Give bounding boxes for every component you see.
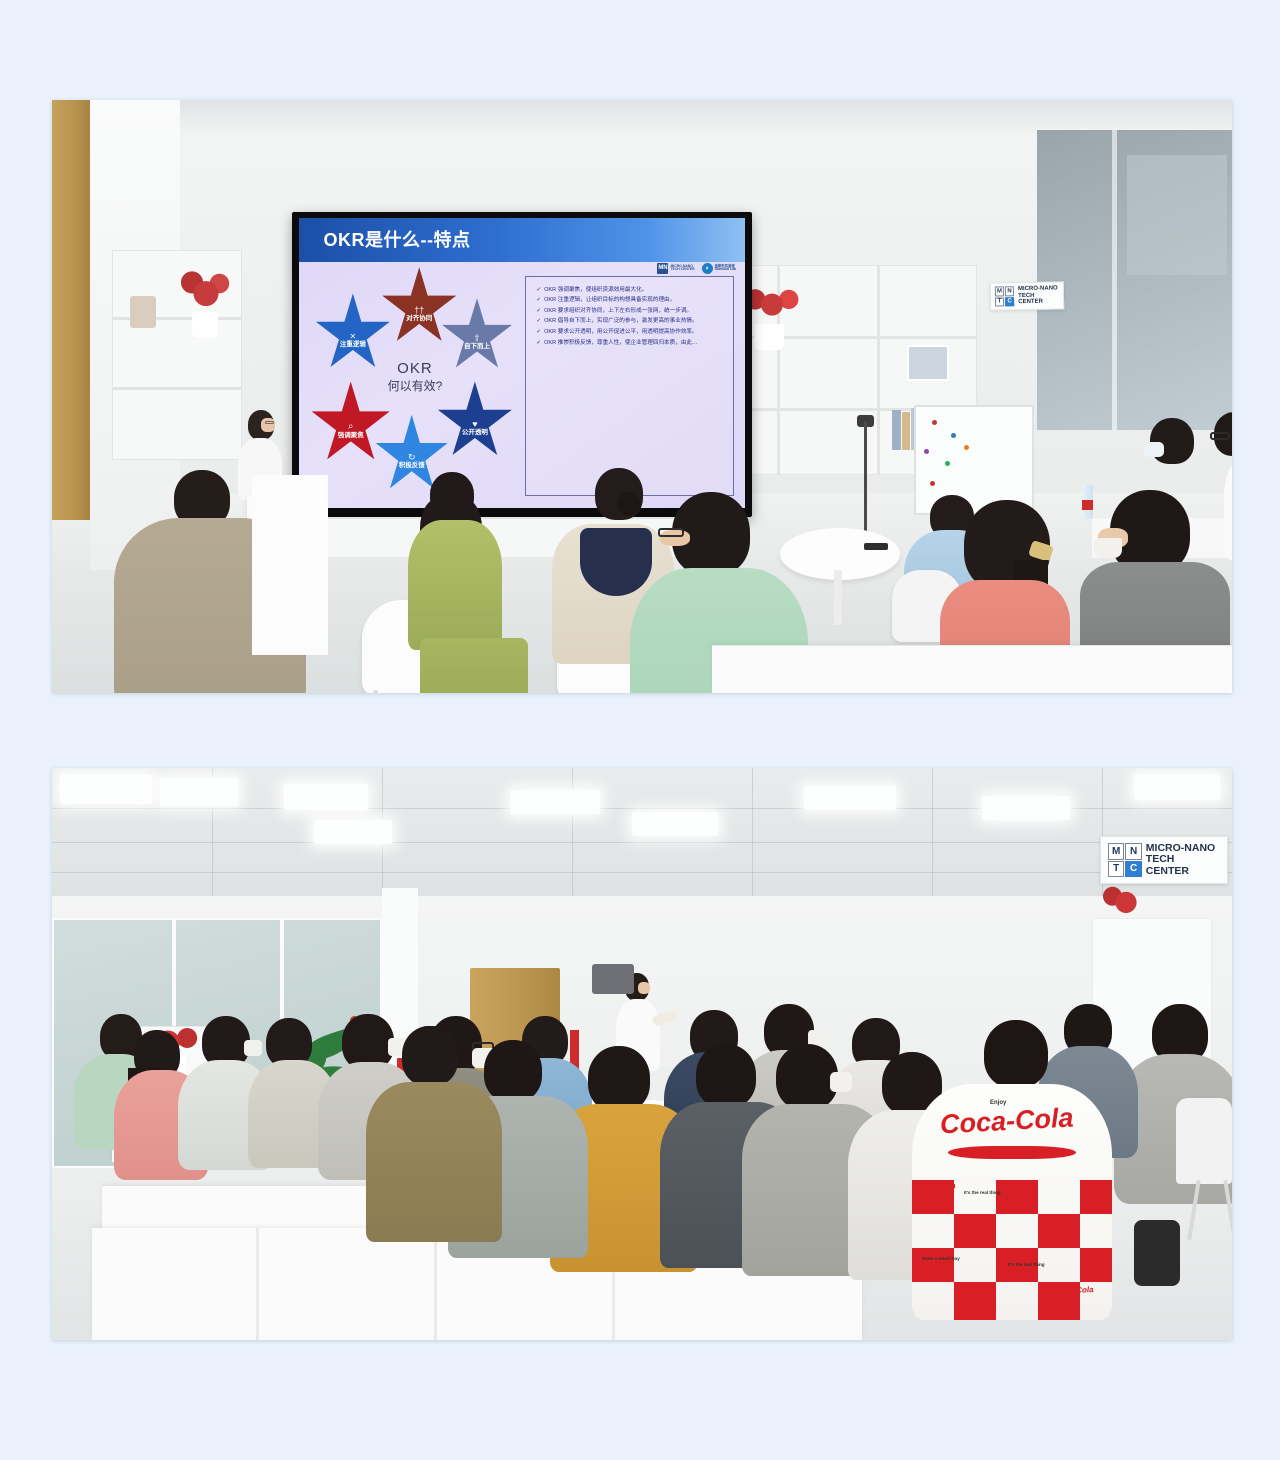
bullet-item: ✓ OKR 要求组织对齐协同，上下左右形成一张网，统一步调。: [536, 308, 722, 315]
office-chair-dark: [1134, 1220, 1180, 1286]
check-icon: ✓: [536, 329, 541, 336]
okr-star-diagram: †† 对齐协同 ⇧ 自下而上 ♥ 公开透明: [308, 267, 522, 505]
ceiling-light: [632, 812, 718, 836]
star-duiqixietong[interactable]: †† 对齐协同: [381, 267, 458, 348]
okr-bullet-panel: ✓ OKR 强调聚焦，使组织资源效用最大化。 ✓ OKR 注重逻辑，让组织目标的…: [525, 276, 735, 496]
ceiling-light: [160, 778, 238, 806]
sign-cell-m: M: [1108, 843, 1124, 860]
window-pane-right: [1127, 155, 1227, 275]
check-icon: ✓: [536, 340, 541, 347]
sign-line2: TECH CENTER: [1018, 292, 1059, 306]
star-label: 对齐协同: [406, 316, 432, 323]
face-mask: [1094, 538, 1122, 558]
check-icon: ✓: [536, 308, 541, 315]
magnet-dot: [964, 445, 969, 450]
cola-swoosh: [948, 1146, 1076, 1159]
skirt: [420, 638, 528, 693]
ceiling-top: [52, 100, 1232, 134]
star-label: 注重逻辑: [340, 342, 366, 349]
glasses-icon: [658, 528, 684, 537]
face-mask: [244, 1040, 262, 1056]
collage-page: OKR是什么--特点 MN MICRO-NANO TECH CENTER: [0, 0, 1280, 1460]
white-partition-board: [252, 475, 328, 655]
bullet-text: OKR 要求公开透明，用公开促进公平，用透明提高协作效率。: [544, 329, 723, 336]
sign-cell-c: C: [1005, 297, 1014, 307]
remote-control: [864, 543, 888, 550]
okr-center-line2: 何以有效?: [364, 379, 467, 394]
sign-cell-n: N: [1005, 286, 1014, 296]
diamond-lab-logo: ◗ 金刚石实验室 Diamond Lab: [702, 263, 736, 274]
cola-brand-script-small: Coca-Cola: [1054, 1285, 1094, 1296]
face-mask: [830, 1072, 852, 1092]
ceiling-light: [284, 784, 368, 810]
link-icon: ✕: [350, 333, 357, 341]
flower-pot-left: [192, 312, 218, 338]
sign-cell-m: M: [995, 286, 1004, 296]
sign-cell-c: C: [1125, 861, 1141, 878]
mntc-logo-line2: TECH CENTER: [670, 268, 694, 271]
hair-bun: [618, 492, 640, 516]
okr-slide: OKR是什么--特点 MN MICRO-NANO TECH CENTER: [299, 218, 745, 508]
bullet-item: ✓ OKR 要求公开透明，用公开促进公平，用透明提高协作效率。: [536, 329, 722, 336]
sign-cell-t: T: [995, 297, 1004, 307]
bullet-item: ✓ OKR 强调聚焦，使组织资源效用最大化。: [536, 287, 722, 294]
ceiling-light: [1134, 774, 1220, 800]
table-leg: [834, 570, 842, 625]
search-icon: ⌕: [348, 422, 354, 432]
navy-scarf: [580, 528, 652, 596]
chair-right: [1176, 1098, 1232, 1184]
bullet-text: OKR 强调聚焦，使组织资源效用最大化。: [544, 287, 723, 294]
ceiling-speaker: [592, 964, 634, 994]
ceiling-light: [510, 790, 600, 814]
glasses-icon: [1210, 432, 1230, 440]
micro-nano-tech-center-logo: MN MICRO-NANO TECH CENTER: [657, 263, 694, 274]
bullet-text: OKR 注重逻辑，让组织目标的构想具备实现的理由。: [544, 297, 723, 304]
vase-left: [130, 296, 156, 328]
bullet-item: ✓ OKR 注重逻辑，让组织目标的构想具备实现的理由。: [536, 297, 722, 304]
feedback-icon: ↻: [408, 453, 416, 462]
red-flowers-right-bottom: [1100, 876, 1152, 920]
magnet-dot: [924, 449, 929, 454]
cola-brand-script: Coca-Cola: [939, 1103, 1074, 1141]
star-label: 强调聚焦: [338, 433, 364, 440]
book: [892, 410, 901, 450]
magnet-dot: [945, 461, 950, 466]
okr-center-label: OKR 何以有效?: [364, 360, 467, 394]
ceiling-light: [60, 774, 152, 804]
magnet-dot: [930, 481, 935, 486]
projection-screen-top[interactable]: OKR是什么--特点 MN MICRO-NANO TECH CENTER: [292, 212, 752, 517]
slide-header: OKR是什么--特点 MN MICRO-NANO TECH CENTER: [299, 218, 745, 262]
sign-cell-t: T: [1108, 861, 1124, 878]
slide-title: OKR是什么--特点: [324, 231, 471, 249]
red-flowers-left: [178, 260, 234, 316]
check-icon: ✓: [536, 287, 541, 294]
bullet-item: ✓ OKR 推崇积极反馈，尊重人性，使企业管理回归本质，由此…: [536, 340, 722, 347]
shelf-divider: [877, 265, 880, 475]
cola-tagline-b: Have a Good Day: [922, 1256, 960, 1261]
ceiling-light: [982, 796, 1070, 820]
star-label: 公开透明: [462, 430, 488, 437]
star-qiangdiaojujiao[interactable]: ⌕ 强调聚焦: [310, 381, 391, 467]
ceiling-light: [804, 786, 896, 810]
bullet-text: OKR 推崇积极反馈，尊重人性，使企业管理回归本质，由此…: [544, 340, 723, 347]
slide-logo-group: MN MICRO-NANO TECH CENTER ◗ 金刚石: [657, 263, 736, 274]
coca-cola-jacket: Enjoy Coca-Cola It's the: [912, 1084, 1112, 1320]
check-icon: ✓: [536, 297, 541, 304]
mntc-mark: MN: [657, 263, 668, 274]
magnet-dot: [932, 420, 937, 425]
sign-cell-n: N: [1125, 843, 1141, 860]
upload-icon: ⇧: [473, 334, 481, 343]
sign-line2: TECH CENTER: [1146, 854, 1220, 877]
bullet-item: ✓ OKR 倡导自下而上，实现广泛的参与，激发更高的事业热情。: [536, 318, 722, 325]
ceiling-light: [314, 820, 392, 844]
star-label: 积极反馈: [399, 463, 425, 470]
flower-pot-right: [754, 324, 784, 350]
photo-top: OKR是什么--特点 MN MICRO-NANO TECH CENTER: [52, 100, 1232, 693]
desk-seam: [256, 1228, 259, 1340]
wood-door-left: [52, 100, 90, 520]
partition-mullion: [1112, 130, 1117, 430]
diamond-lab-mark: ◗: [702, 263, 713, 274]
magnet-dot: [951, 433, 956, 438]
bullet-text: OKR 要求组织对齐协同，上下左右形成一张网，统一步调。: [544, 308, 723, 315]
bottle-label: [1082, 500, 1093, 510]
desk-seam: [434, 1228, 437, 1340]
long-table-front: [712, 645, 1232, 693]
face-mask: [1144, 442, 1164, 457]
heart-icon: ♥: [472, 420, 477, 429]
diamond-lab-line2: Diamond Lab: [715, 268, 736, 271]
photo-bottom: OKR是什么--特点 MN MICRO-NANO TECH CENTER: [52, 768, 1232, 1340]
framed-picture: [907, 345, 949, 381]
cola-tagline-a: It's the real thing: [964, 1190, 1001, 1195]
book: [902, 412, 910, 450]
wall-sign-mntc-top: M N T C MICRO-NANO TECH CENTER: [990, 281, 1064, 310]
check-icon: ✓: [536, 318, 541, 325]
cola-tagline-a: It's the real thing: [1008, 1262, 1045, 1267]
okr-center-line1: OKR: [364, 360, 467, 379]
star-label: 自下而上: [464, 344, 490, 351]
people-icon: ††: [414, 306, 424, 315]
bullet-text: OKR 倡导自下而上，实现广泛的参与，激发更高的事业热情。: [544, 318, 723, 325]
